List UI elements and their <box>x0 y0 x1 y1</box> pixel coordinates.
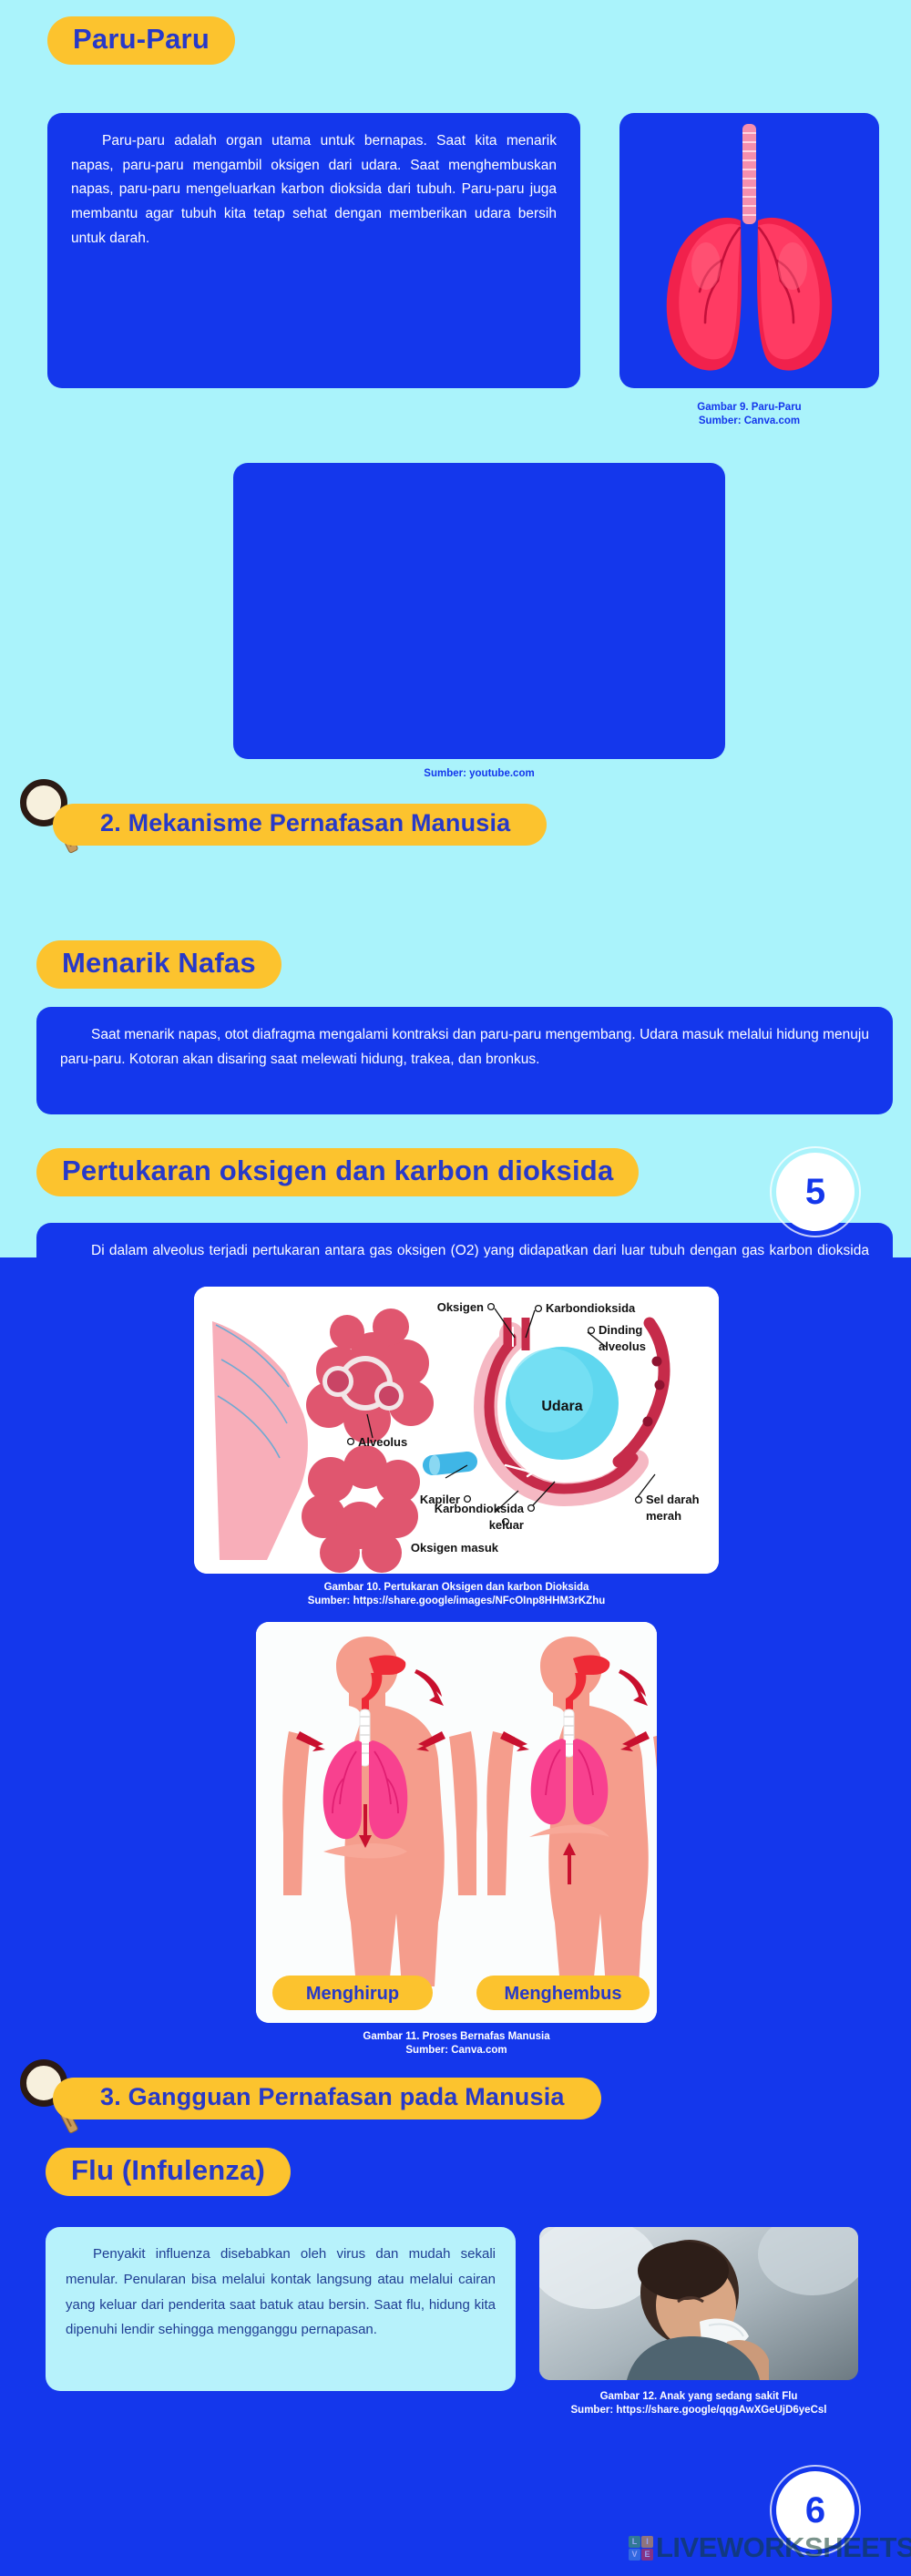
label-udara: Udara <box>541 1399 582 1414</box>
breathing-caption-line1: Gambar 11. Proses Bernafas Manusia <box>256 2030 657 2044</box>
video-caption: Sumber: youtube.com <box>233 767 725 781</box>
liveworksheets-watermark: L I V E LIVEWORKSHEETS <box>629 2531 911 2564</box>
page-number-5: 5 <box>776 1153 855 1231</box>
breathing-bodies-illustration: Menghirup <box>256 1622 657 2023</box>
heading-section-2: 2. Mekanisme Pernafasan Manusia <box>53 804 547 846</box>
menarik-nafas-card: Saat menarik napas, otot diafragma menga… <box>36 1007 893 1114</box>
label-dinding-alveolus: Dinding <box>599 1323 642 1337</box>
label-menghirup: Menghirup <box>306 1984 399 2004</box>
lungs-figure-caption: Gambar 9. Paru-Paru Sumber: Canva.com <box>619 401 879 428</box>
alveolus-caption: Gambar 10. Pertukaran Oksigen dan karbon… <box>194 1581 719 1608</box>
svg-text:merah: merah <box>646 1509 681 1523</box>
lungs-illustration <box>619 113 879 388</box>
label-oksigen-masuk: Oksigen masuk <box>411 1541 499 1555</box>
logo-tile-i: I <box>641 2536 653 2548</box>
flu-description-card: Penyakit influenza disebabkan oleh virus… <box>46 2227 516 2391</box>
lungs-image-frame <box>619 113 879 388</box>
heading-flu: Flu (Infulenza) <box>46 2148 291 2196</box>
logo-tile-l: L <box>629 2536 640 2548</box>
heading-menarik-nafas: Menarik Nafas <box>36 940 281 989</box>
section-lungs-and-mechanism: Paru-Paru Paru-paru adalah organ utama u… <box>0 0 911 1257</box>
breathing-process-diagram: Menghirup <box>256 1622 657 2023</box>
label-menghembus: Menghembus <box>505 1984 622 2004</box>
section-disorders: Udara <box>0 1257 911 2576</box>
logo-tile-v: V <box>629 2549 640 2561</box>
video-embed-placeholder[interactable] <box>233 463 725 759</box>
sick-child-photo <box>539 2227 858 2380</box>
worksheet-page: Paru-Paru Paru-paru adalah organ utama u… <box>0 0 911 2576</box>
label-sel-darah-merah: Sel darah <box>646 1493 700 1506</box>
flu-photo <box>539 2227 858 2380</box>
lungs-paragraph: Paru-paru adalah organ utama untuk berna… <box>71 129 557 251</box>
liveworksheets-wordmark: LIVEWORKSHEETS <box>656 2531 911 2564</box>
menarik-nafas-text: Saat menarik napas, otot diafragma menga… <box>60 1023 869 1072</box>
svg-text:alveolus: alveolus <box>599 1339 646 1353</box>
breathing-caption-line2: Sumber: Canva.com <box>256 2044 657 2058</box>
svg-text:keluar: keluar <box>489 1518 524 1532</box>
label-karbondioksida-keluar: Karbondioksida <box>435 1502 525 1515</box>
flu-text: Penyakit influenza disebabkan oleh virus… <box>66 2242 496 2343</box>
lungs-caption-line1: Gambar 9. Paru-Paru <box>619 401 879 415</box>
alveolus-caption-line1: Gambar 10. Pertukaran Oksigen dan karbon… <box>194 1581 719 1595</box>
label-oksigen: Oksigen <box>437 1300 484 1314</box>
alveolus-caption-line2: Sumber: https://share.google/images/NFcO… <box>194 1595 719 1608</box>
heading-section-3: 3. Gangguan Pernafasan pada Manusia <box>53 2078 601 2119</box>
flu-photo-caption: Gambar 12. Anak yang sedang sakit Flu Su… <box>539 2390 858 2417</box>
lungs-caption-line2: Sumber: Canva.com <box>619 415 879 428</box>
heading-paru-paru: Paru-Paru <box>47 16 235 65</box>
alveolus-illustration: Udara <box>194 1287 719 1574</box>
lungs-description-card: Paru-paru adalah organ utama untuk berna… <box>47 113 580 388</box>
label-karbondioksida: Karbondioksida <box>546 1301 636 1315</box>
alveolus-diagram: Udara <box>194 1287 719 1574</box>
liveworksheets-logo-tiles: L I V E <box>629 2536 653 2561</box>
heading-pertukaran-gas: Pertukaran oksigen dan karbon dioksida <box>36 1148 639 1196</box>
flu-photo-caption-line2: Sumber: https://share.google/qqgAwXGeUjD… <box>539 2404 858 2417</box>
label-alveolus: Alveolus <box>358 1435 407 1449</box>
breathing-caption: Gambar 11. Proses Bernafas Manusia Sumbe… <box>256 2030 657 2058</box>
logo-tile-e: E <box>641 2549 653 2561</box>
flu-photo-caption-line1: Gambar 12. Anak yang sedang sakit Flu <box>539 2390 858 2404</box>
